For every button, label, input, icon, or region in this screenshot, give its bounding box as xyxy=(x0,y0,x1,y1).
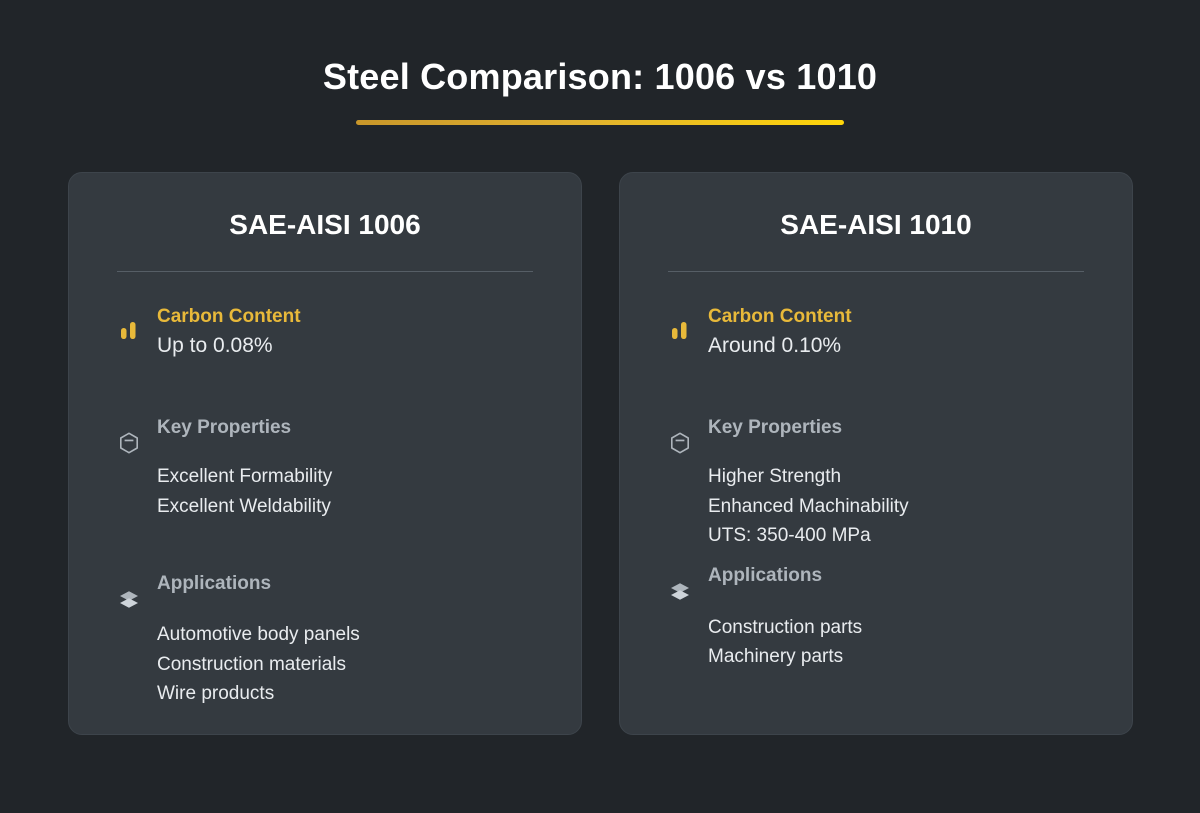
key-properties-label: Key Properties xyxy=(708,415,1084,441)
key-properties-section: Key Properties Higher Strength Enhanced … xyxy=(668,415,1084,550)
list-item: UTS: 350-400 MPa xyxy=(708,521,1084,550)
applications-label: Applications xyxy=(157,571,533,597)
key-properties-label: Key Properties xyxy=(157,415,533,441)
steel-card-1006: SAE-AISI 1006 Carbon Content Up to 0.08% xyxy=(68,172,582,735)
bar-chart-icon xyxy=(117,318,141,342)
applications-label: Applications xyxy=(708,563,1084,589)
applications-section: Applications Construction parts Machiner… xyxy=(668,563,1084,671)
bar-chart-icon xyxy=(668,318,692,342)
carbon-content-value: Up to 0.08% xyxy=(157,331,533,361)
applications-list: Construction parts Machinery parts xyxy=(708,613,1084,672)
steel-card-1010: SAE-AISI 1010 Carbon Content Around 0.10… xyxy=(619,172,1133,735)
list-item: Automotive body panels xyxy=(157,620,533,649)
card-title: SAE-AISI 1006 xyxy=(117,173,533,242)
carbon-content-value: Around 0.10% xyxy=(708,331,1084,361)
list-item: Machinery parts xyxy=(708,642,1084,671)
page-header: Steel Comparison: 1006 vs 1010 xyxy=(0,0,1200,125)
cube-icon xyxy=(668,431,692,455)
page-title: Steel Comparison: 1006 vs 1010 xyxy=(0,56,1200,97)
layers-icon xyxy=(117,587,141,611)
applications-section: Applications Automotive body panels Cons… xyxy=(117,571,533,708)
card-title: SAE-AISI 1010 xyxy=(668,173,1084,242)
card-divider xyxy=(117,271,533,272)
key-properties-list: Higher Strength Enhanced Machinability U… xyxy=(708,462,1084,550)
applications-list: Automotive body panels Construction mate… xyxy=(157,620,533,708)
comparison-page: Steel Comparison: 1006 vs 1010 SAE-AISI … xyxy=(0,0,1200,813)
title-accent-underline xyxy=(356,120,844,125)
card-divider xyxy=(668,271,1084,272)
layers-icon xyxy=(668,579,692,603)
list-item: Construction materials xyxy=(157,650,533,679)
carbon-content-section: Carbon Content Around 0.10% xyxy=(668,304,1084,362)
list-item: Enhanced Machinability xyxy=(708,492,1084,521)
carbon-content-section: Carbon Content Up to 0.08% xyxy=(117,304,533,362)
cube-icon xyxy=(117,431,141,455)
list-item: Construction parts xyxy=(708,613,1084,642)
list-item: Wire products xyxy=(157,679,533,708)
key-properties-list: Excellent Formability Excellent Weldabil… xyxy=(157,462,533,521)
list-item: Higher Strength xyxy=(708,462,1084,491)
list-item: Excellent Weldability xyxy=(157,492,533,521)
carbon-content-label: Carbon Content xyxy=(157,304,533,330)
carbon-content-label: Carbon Content xyxy=(708,304,1084,330)
comparison-cards: SAE-AISI 1006 Carbon Content Up to 0.08% xyxy=(68,172,1133,735)
key-properties-section: Key Properties Excellent Formability Exc… xyxy=(117,415,533,521)
list-item: Excellent Formability xyxy=(157,462,533,491)
